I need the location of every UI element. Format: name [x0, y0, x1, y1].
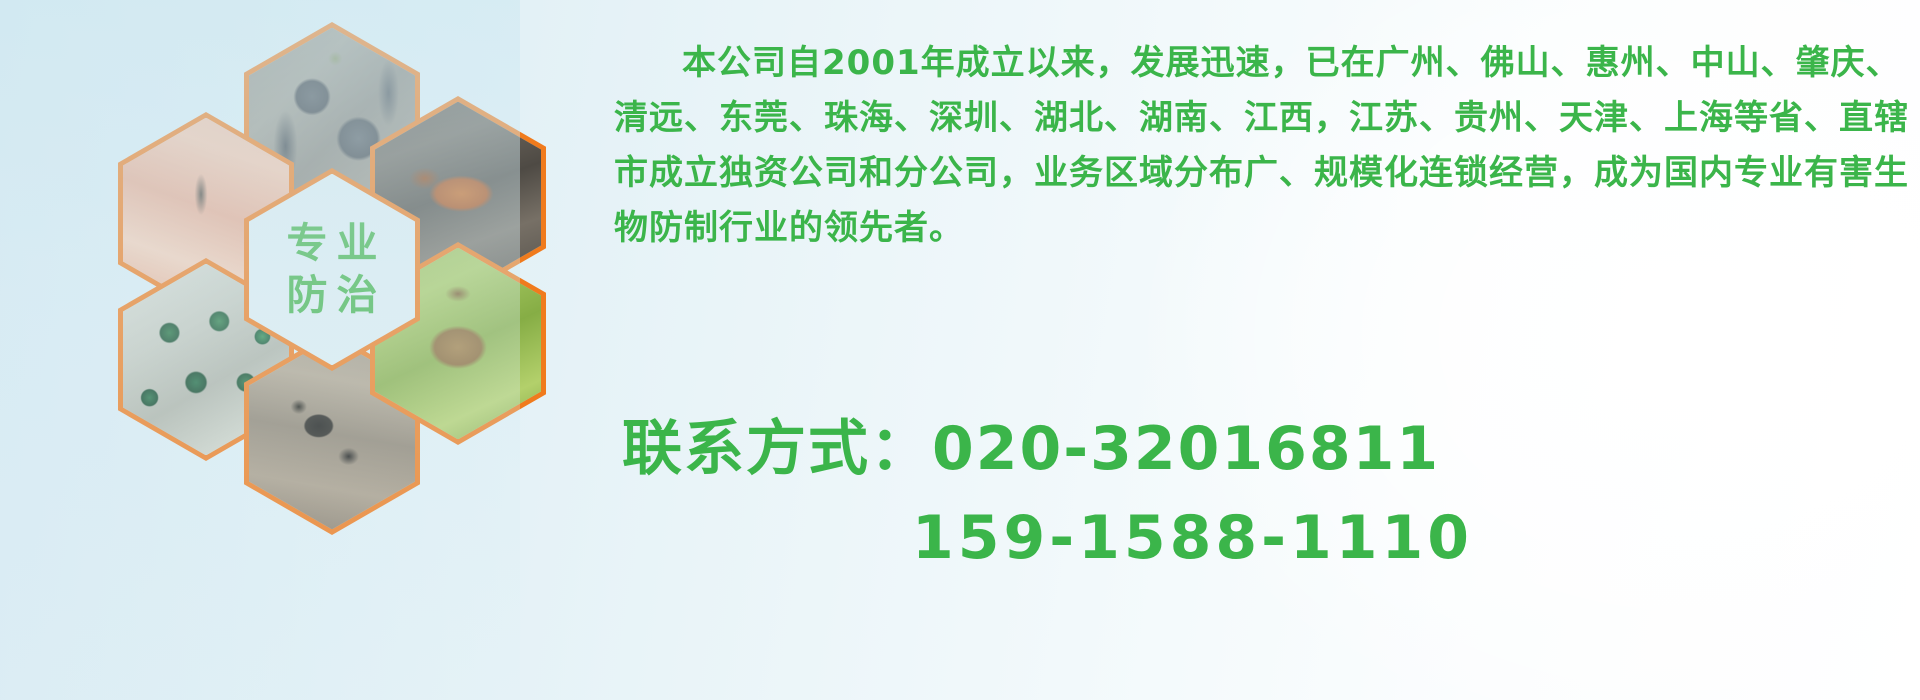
contact-phone-mobile[interactable]: 159-1588-1110	[622, 503, 1912, 573]
copy-block: 本公司自2001年成立以来，发展迅速，已在广州、佛山、惠州、中山、肇庆、清远、东…	[614, 36, 1914, 256]
contact-block: 联系方式：020-32016811 159-1588-1110	[622, 400, 1912, 573]
promo-banner: 专业 防治 本公司自2001年成立以来，发展迅速，已在广州、佛山、惠州、中山、肇…	[0, 0, 1920, 700]
center-slogan-line-1: 专业	[278, 222, 387, 265]
company-description-paragraph: 本公司自2001年成立以来，发展迅速，已在广州、佛山、惠州、中山、肇庆、清远、东…	[614, 36, 1910, 256]
center-slogan: 专业 防治	[249, 174, 415, 366]
hex-center-frame: 专业 防治	[249, 174, 415, 366]
hexagon-photo-cluster: 专业 防治	[96, 8, 596, 568]
center-slogan-line-2: 防治	[278, 274, 387, 317]
contact-phone-landline[interactable]: 联系方式：020-32016811	[622, 400, 1912, 487]
